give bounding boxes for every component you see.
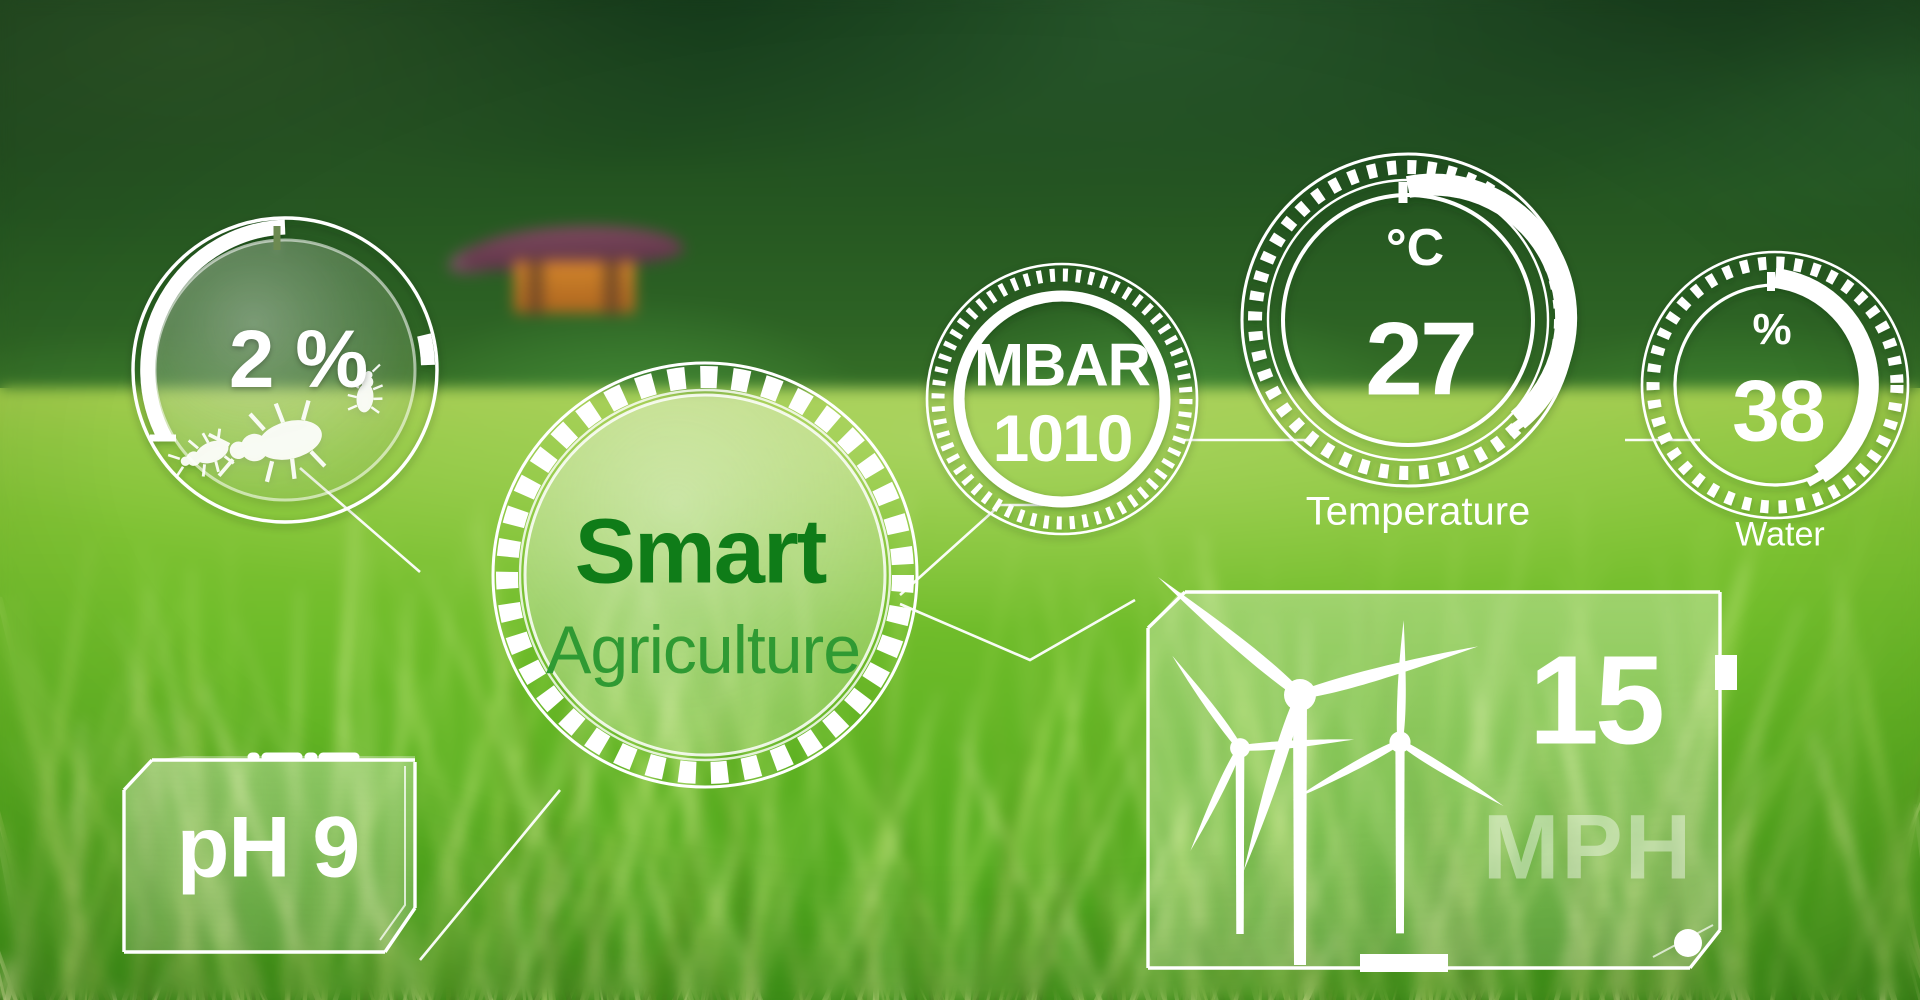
brand-title-line1: Smart bbox=[575, 500, 826, 605]
water-gauge-value: 38 bbox=[1732, 363, 1824, 462]
dashboard-stage: 2 % MBAR 1010 °C 27 Temperature % 38 Wat… bbox=[0, 0, 1920, 1000]
pest-gauge-tick-right bbox=[424, 335, 428, 365]
wind-panel-value: 15 bbox=[1529, 628, 1661, 773]
wind-panel-unit: MPH bbox=[1483, 796, 1693, 901]
temperature-gauge-value: 27 bbox=[1365, 301, 1475, 420]
water-gauge-label: Water bbox=[1735, 516, 1824, 555]
connector-brand-to-wind bbox=[900, 600, 1135, 660]
pest-gauge-value: 2 % bbox=[229, 313, 367, 407]
temperature-gauge-arc-cap-end bbox=[1508, 418, 1528, 432]
ph-panel-value: pH 9 bbox=[177, 799, 359, 898]
brand-title-line2: Agriculture bbox=[546, 611, 860, 689]
connector-ph-to-brand bbox=[420, 790, 560, 960]
temperature-gauge-label: Temperature bbox=[1306, 490, 1531, 535]
temperature-gauge-unit: °C bbox=[1386, 218, 1444, 278]
water-gauge-unit: % bbox=[1752, 305, 1791, 355]
pressure-gauge-unit: MBAR bbox=[974, 331, 1150, 400]
pressure-gauge-value: 1010 bbox=[993, 400, 1132, 476]
hud-overlay: 2 % MBAR 1010 °C 27 Temperature % 38 Wat… bbox=[0, 0, 1920, 1000]
